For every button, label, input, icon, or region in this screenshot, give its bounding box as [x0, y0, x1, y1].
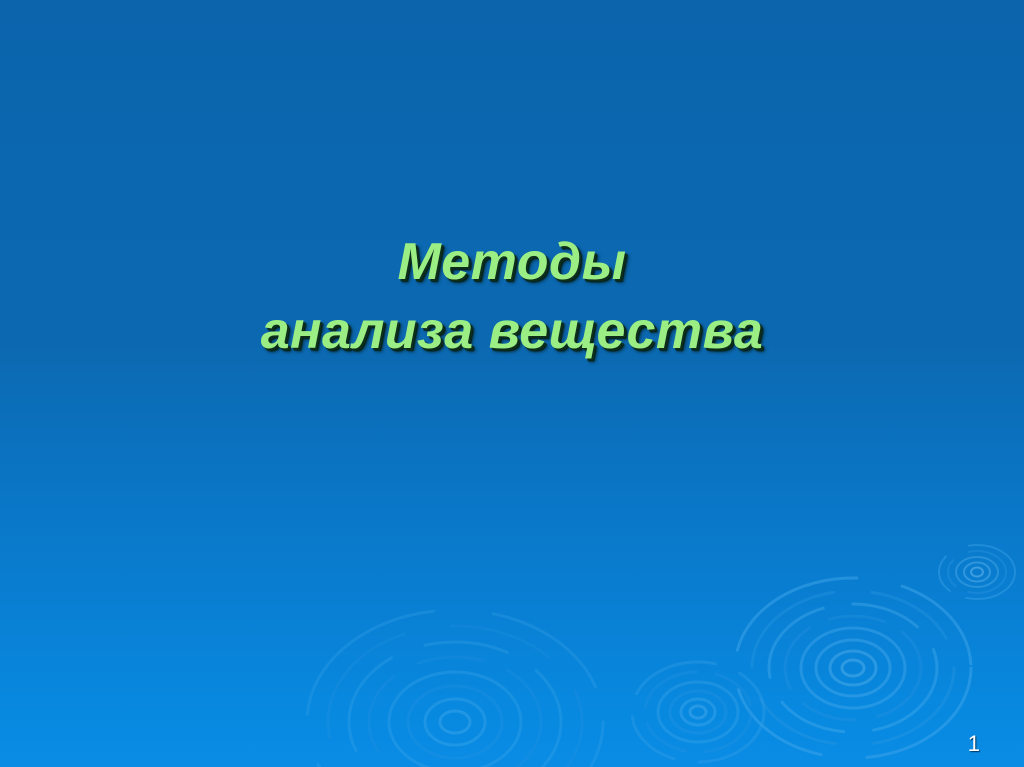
slide-title-line-2: анализа вещества	[40, 297, 984, 366]
ripple-decoration-layer	[0, 0, 1024, 767]
presentation-slide: Методы анализа вещества 1	[0, 0, 1024, 767]
ripple-group-medium-center	[632, 662, 764, 762]
slide-number: 1	[968, 733, 980, 755]
slide-title-line-1: Методы	[40, 228, 984, 297]
ripple-group-small-top-right	[939, 545, 1015, 599]
ripple-group-large-left	[307, 610, 603, 767]
slide-title: Методы анализа вещества	[0, 228, 1024, 365]
ripple-group-large-right	[735, 578, 971, 758]
